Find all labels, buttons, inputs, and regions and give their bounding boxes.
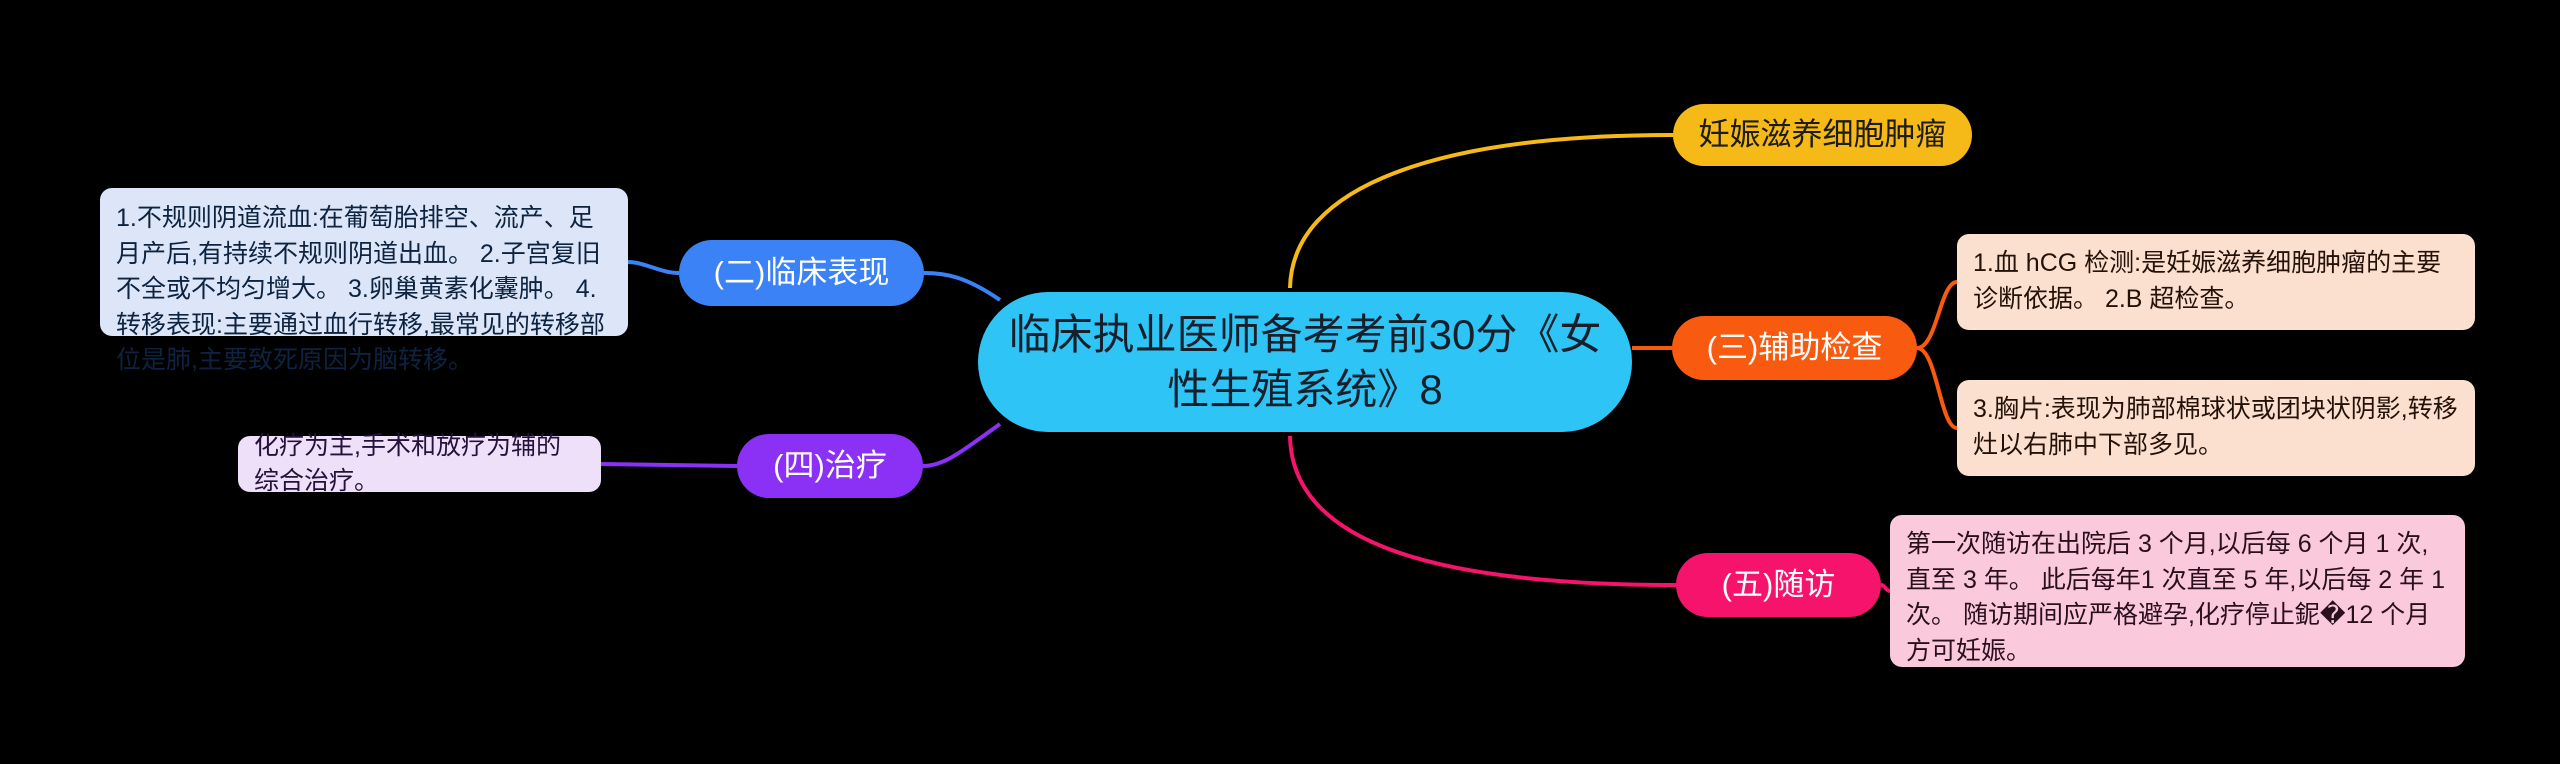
branch-node-clinical[interactable]: (二)临床表现 (679, 240, 924, 306)
root-node[interactable]: 临床执业医师备考考前30分《女性生殖系统》8 (978, 292, 1632, 432)
connector-auxiliary-detail-2 (1917, 348, 1957, 428)
root-node-label: 临床执业医师备考考前30分《女性生殖系统》8 (1008, 307, 1602, 418)
connector-root-tumor (1290, 135, 1673, 288)
leaf-card-followup-detail: 第一次随访在出院后 3 个月,以后每 6 个月 1 次,直至 3 年。 此后每年… (1890, 515, 2465, 667)
leaf-card-aux-detail-2: 3.胸片:表现为肺部棉球状或团块状阴影,转移灶以右肺中下部多见。 (1957, 380, 2475, 476)
connector-followup-detail (1881, 585, 1890, 591)
connector-root-treatment (923, 424, 1000, 466)
mindmap-canvas: 1.不规则阴道流血:在葡萄胎排空、流产、足月产后,有持续不规则阴道出血。 2.子… (0, 0, 2560, 764)
leaf-card-clinical-detail: 1.不规则阴道流血:在葡萄胎排空、流产、足月产后,有持续不规则阴道出血。 2.子… (100, 188, 628, 336)
leaf-card-treatment-detail: 化疗为主,手术和放疗为辅的综合治疗。 (238, 436, 601, 492)
branch-node-followup[interactable]: (五)随访 (1676, 553, 1881, 617)
connector-treatment-detail (601, 464, 737, 466)
branch-node-auxiliary[interactable]: (三)辅助检查 (1672, 316, 1917, 380)
branch-node-treatment[interactable]: (四)治疗 (737, 434, 923, 498)
connector-auxiliary-detail-1 (1917, 282, 1957, 348)
leaf-card-aux-detail-1: 1.血 hCG 检测:是妊娠滋养细胞肿瘤的主要诊断依据。 2.B 超检查。 (1957, 234, 2475, 330)
branch-node-tumor[interactable]: 妊娠滋养细胞肿瘤 (1673, 104, 1972, 166)
connector-root-followup (1290, 436, 1676, 585)
connector-clinical-detail (628, 262, 679, 273)
connector-root-clinical (924, 273, 1000, 300)
